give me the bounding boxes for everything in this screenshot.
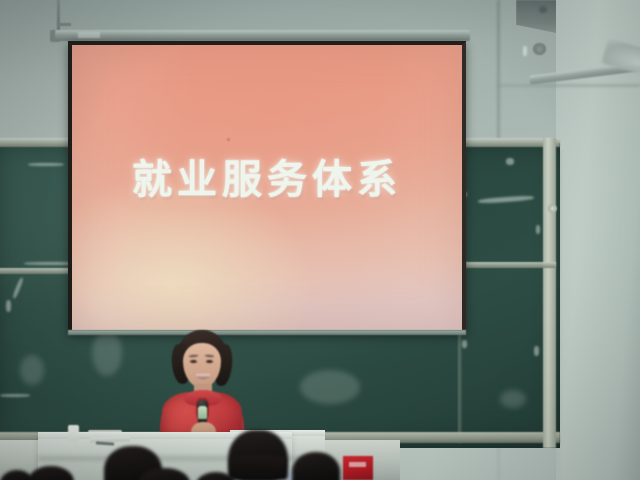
wall-light-mark xyxy=(523,46,527,56)
chalkboard-frame-right xyxy=(543,138,556,448)
screen-bottom-weight-bar xyxy=(68,330,466,335)
wall-seam-horizontal xyxy=(497,84,640,87)
chalk-mark xyxy=(6,300,11,312)
ceiling-mount-dot xyxy=(539,6,547,13)
student-hair xyxy=(230,455,286,480)
classroom-photograph: 就业服务体系 xyxy=(0,0,640,480)
chalk-mark xyxy=(462,340,467,348)
screen-dust-speck xyxy=(227,138,230,141)
ceiling-fan-hub xyxy=(533,43,546,55)
screen-mount-bracket xyxy=(57,23,71,26)
chalk-mark xyxy=(0,394,30,397)
chalk-dust xyxy=(300,370,360,404)
chalk-dust xyxy=(20,355,44,385)
screen-roller-housing[interactable] xyxy=(55,30,470,41)
chalk-mark xyxy=(536,225,540,234)
projection-screen[interactable]: 就业服务体系 xyxy=(68,41,466,334)
chalk-dust xyxy=(92,330,122,376)
chalk-dust xyxy=(500,390,526,408)
presenter-eye-right xyxy=(206,360,213,363)
chalk-rail-right xyxy=(466,262,556,268)
cup xyxy=(68,425,79,442)
chalkboard-slide-knob[interactable] xyxy=(548,204,557,213)
chalk-mark xyxy=(28,163,64,166)
chalk-mark xyxy=(506,158,514,165)
red-bag-label xyxy=(349,462,366,467)
presenter-mouth xyxy=(196,374,210,379)
screen-mount-wire xyxy=(57,0,60,31)
microphone-band xyxy=(198,406,207,419)
chalk-rail-left xyxy=(0,268,76,274)
presenter-eye-left xyxy=(190,360,197,363)
chalk-mark xyxy=(534,346,539,356)
screen-roller-label xyxy=(78,32,100,38)
projected-slide: 就业服务体系 xyxy=(72,45,462,330)
slide-title: 就业服务体系 xyxy=(72,147,462,205)
red-bag xyxy=(343,456,373,480)
